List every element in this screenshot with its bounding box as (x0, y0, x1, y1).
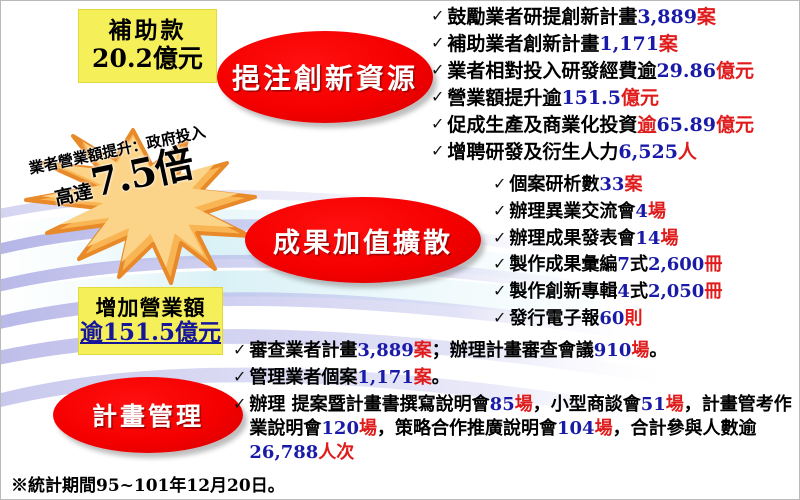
metric-unit: 案 (697, 6, 716, 28)
metric-unit: 冊 (704, 254, 722, 275)
metric-value: 51 (641, 394, 666, 415)
metric-label: 。 (649, 340, 667, 361)
check-icon: ✓ (493, 200, 506, 221)
bullet-text: 審查業者計畫3,889案；辦理計畫審查會議910場。 (249, 339, 667, 363)
metric-value: 85 (490, 394, 515, 415)
check-icon: ✓ (431, 59, 444, 80)
metric-unit: 則 (624, 308, 642, 329)
metric-value: 2,050 (648, 281, 704, 302)
check-icon: ✓ (431, 86, 444, 107)
metric-unit: 案 (659, 33, 678, 55)
metric-label: 式 (630, 281, 648, 302)
check-icon: ✓ (493, 280, 506, 301)
metric-unit: 場 (666, 394, 684, 415)
section-title-diffusion: 成果加值擴散 (245, 197, 481, 283)
bullet-row: ✓審查業者計畫3,889案；辦理計畫審查會議910場。 (233, 339, 793, 363)
metric-value: 7 (617, 254, 630, 275)
metric-label: 製作成果彙編 (509, 254, 617, 275)
bullet-row: ✓個案研析數33案 (493, 173, 722, 197)
metric-label: 促成生產及商業化投資 (447, 114, 637, 136)
check-icon: ✓ (431, 113, 444, 134)
metric-unit: 億元 (621, 87, 659, 109)
starburst: 業者營業額提升：政府投入 高達 7.5倍 (0, 129, 261, 279)
subsidy-box: 補助款 20.2億元 (78, 9, 217, 83)
metric-unit: 人 (678, 141, 697, 163)
metric-value: 3,889 (357, 340, 413, 361)
revenue-amount: 逾151.5億元 (80, 320, 221, 346)
metric-value: 3,889 (637, 6, 697, 28)
metric-unit: 場 (595, 418, 613, 439)
metric-unit: 案 (414, 340, 432, 361)
check-icon: ✓ (431, 5, 444, 26)
metric-unit: 逾 (637, 114, 656, 136)
metric-value: 4 (635, 201, 648, 222)
metric-value: 910 (594, 340, 632, 361)
metric-unit: 場 (631, 340, 649, 361)
metric-label: ；辦理計畫審查會議 (432, 340, 594, 361)
metric-value: 2,600 (648, 254, 704, 275)
bullet-text: 鼓勵業者研提創新計畫3,889案 (447, 5, 716, 30)
metric-label: ，小型商談會 (533, 394, 641, 415)
metric-value: 1,171 (599, 33, 659, 55)
metric-value: 33 (599, 174, 624, 195)
bullet-text: 發行電子報60則 (509, 307, 642, 331)
metric-unit: 冊 (704, 281, 722, 302)
bullet-row: ✓管理業者個案1,171案。 (233, 366, 793, 390)
bullet-list-innovation: ✓鼓勵業者研提創新計畫3,889案✓補助業者創新計畫1,171案✓業者相對投入研… (431, 5, 754, 167)
metric-label: 審查業者計畫 (249, 340, 357, 361)
metric-unit: 場 (515, 394, 533, 415)
metric-label: ，策略合作推廣說明會 (377, 418, 557, 439)
check-icon: ✓ (233, 366, 246, 387)
metric-label: 發行電子報 (509, 308, 599, 329)
bullet-list-management: ✓審查業者計畫3,889案；辦理計畫審查會議910場。✓管理業者個案1,171案… (233, 339, 793, 468)
metric-label: 個案研析數 (509, 174, 599, 195)
metric-value: 1,171 (357, 367, 413, 388)
check-icon: ✓ (431, 32, 444, 53)
check-icon: ✓ (233, 339, 246, 360)
metric-label: 製作創新專輯 (509, 281, 617, 302)
bullet-text: 製作成果彙編7式2,600冊 (509, 253, 722, 277)
metric-label: 辦理 提案暨計畫書撰寫說明會 (249, 394, 489, 415)
bullet-row: ✓補助業者創新計畫1,171案 (431, 32, 754, 57)
check-icon: ✓ (493, 307, 506, 328)
subsidy-label: 補助款 (109, 18, 187, 44)
bullet-text: 辦理 提案暨計畫書撰寫說明會85場，小型商談會51場，計畫管考作業說明會120場… (249, 393, 793, 465)
bullet-text: 業者相對投入研發經費逾29.86億元 (447, 59, 754, 84)
subsidy-amount: 20.2億元 (92, 45, 203, 74)
metric-label: 辦理異業交流會 (509, 201, 635, 222)
bullet-row: ✓鼓勵業者研提創新計畫3,889案 (431, 5, 754, 30)
metric-label: 逾 (637, 60, 656, 82)
bullet-row: ✓辦理異業交流會4場 (493, 200, 722, 224)
section-title-management: 計畫管理 (53, 377, 243, 453)
metric-value: 4 (617, 281, 630, 302)
revenue-label: 增加營業額 (96, 296, 206, 320)
metric-label: 管理業者個案 (249, 367, 357, 388)
bullet-text: 辦理成果發表會14場 (509, 227, 678, 251)
check-icon: ✓ (493, 173, 506, 194)
bullet-row: ✓促成生產及商業化投資逾65.89億元 (431, 113, 754, 138)
bullet-row: ✓業者相對投入研發經費逾29.86億元 (431, 59, 754, 84)
metric-value: 26,788 (249, 442, 318, 463)
bullet-text: 增聘研發及衍生人力6,525人 (447, 140, 697, 165)
starburst-text: 業者營業額提升：政府投入 高達 7.5倍 (0, 116, 263, 285)
metric-unit: 億元 (716, 114, 754, 136)
metric-label: 營業額提升 (447, 87, 542, 109)
check-icon: ✓ (493, 253, 506, 274)
metric-value: 65.89 (656, 114, 716, 136)
metric-label: 逾 (542, 87, 561, 109)
bullet-text: 補助業者創新計畫1,171案 (447, 32, 678, 57)
bullet-text: 管理業者個案1,171案。 (249, 366, 449, 390)
metric-label: 業者相對投入研發經費 (447, 60, 637, 82)
bullet-text: 個案研析數33案 (509, 173, 642, 197)
check-icon: ✓ (233, 393, 246, 414)
bullet-row: ✓增聘研發及衍生人力6,525人 (431, 140, 754, 165)
check-icon: ✓ (493, 227, 506, 248)
section-title-innovation: 挹注創新資源 (217, 31, 433, 123)
metric-label: 鼓勵業者研提創新計畫 (447, 6, 637, 28)
metric-label: 式 (630, 254, 648, 275)
bullet-text: 製作創新專輯4式2,050冊 (509, 280, 722, 304)
metric-unit: 億元 (716, 60, 754, 82)
bullet-row: ✓營業額提升逾151.5億元 (431, 86, 754, 111)
metric-value: 14 (635, 228, 660, 249)
metric-unit: 場 (359, 418, 377, 439)
metric-unit: 場 (660, 228, 678, 249)
metric-value: 120 (321, 418, 359, 439)
revenue-box: 增加營業額 逾151.5億元 (78, 287, 223, 355)
bullet-text: 促成生產及商業化投資逾65.89億元 (447, 113, 754, 138)
starburst-prefix: 高達 (53, 182, 94, 209)
metric-value: 29.86 (656, 60, 716, 82)
metric-unit: 案 (624, 174, 642, 195)
bullet-row: ✓辦理 提案暨計畫書撰寫說明會85場，小型商談會51場，計畫管考作業說明會120… (233, 393, 793, 465)
bullet-row: ✓發行電子報60則 (493, 307, 722, 331)
metric-value: 60 (599, 308, 624, 329)
metric-label: 辦理成果發表會 (509, 228, 635, 249)
metric-value: 104 (557, 418, 595, 439)
metric-unit: 案 (414, 367, 432, 388)
metric-value: 6,525 (618, 141, 678, 163)
metric-value: 151.5 (561, 87, 621, 109)
bullet-row: ✓辦理成果發表會14場 (493, 227, 722, 251)
metric-label: ，合計參與人數逾 (613, 418, 757, 439)
bullet-text: 營業額提升逾151.5億元 (447, 86, 659, 111)
metric-unit: 場 (648, 201, 666, 222)
metric-label: 增聘研發及衍生人力 (447, 141, 618, 163)
bullet-row: ✓製作成果彙編7式2,600冊 (493, 253, 722, 277)
bullet-list-diffusion: ✓個案研析數33案✓辦理異業交流會4場✓辦理成果發表會14場✓製作成果彙編7式2… (493, 173, 722, 334)
infographic-canvas: 業者營業額提升：政府投入 高達 7.5倍 補助款 20.2億元 增加營業額 逾1… (0, 0, 800, 500)
metric-label: 補助業者創新計畫 (447, 33, 599, 55)
bullet-text: 辦理異業交流會4場 (509, 200, 666, 224)
bullet-row: ✓製作創新專輯4式2,050冊 (493, 280, 722, 304)
metric-unit: 人次 (318, 442, 354, 463)
metric-label: 。 (432, 367, 450, 388)
footer-note: ※統計期間95~101年12月20日。 (11, 471, 285, 496)
check-icon: ✓ (431, 140, 444, 161)
